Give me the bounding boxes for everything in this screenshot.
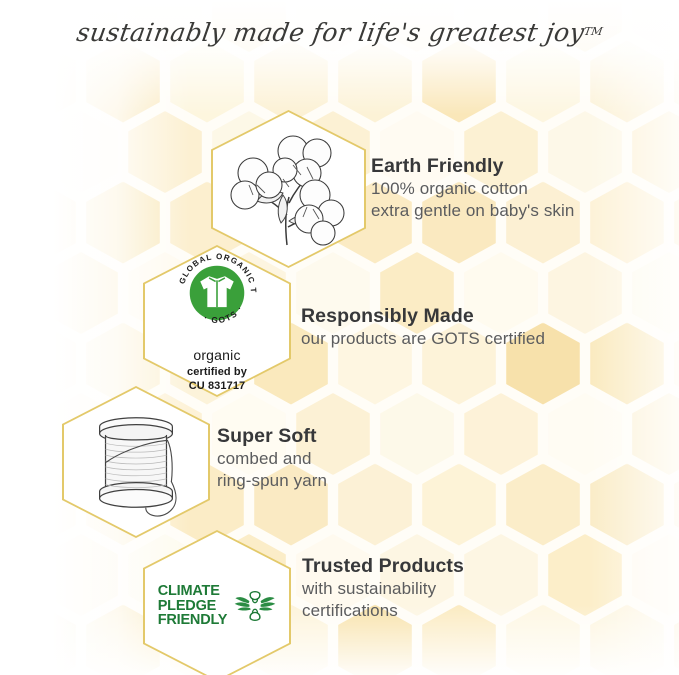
gots-word-organic: organic: [173, 347, 261, 363]
feature-text-super-soft: Super Soft combed and ring-spun yarn: [217, 425, 327, 492]
feature-hexagon-responsibly-made: GLOBAL ORGANIC TEXTILE STANDARD · GOTS ·…: [143, 245, 291, 397]
feature-title: Earth Friendly: [371, 155, 574, 178]
feature-text-trusted-products: Trusted Products with sustainability cer…: [302, 555, 464, 622]
gots-organic-certification-icon: GLOBAL ORGANIC TEXTILE STANDARD · GOTS ·…: [143, 245, 291, 397]
feature-hexagon-trusted-products: CLIMATE PLEDGE FRIENDLY: [143, 530, 291, 675]
honeycomb-cell: [464, 534, 538, 616]
honeycomb-cell: [380, 393, 454, 475]
feature-line: our products are GOTS certified: [301, 328, 545, 350]
feature-title: Super Soft: [217, 425, 327, 448]
honeycomb-cell: [464, 393, 538, 475]
right-fade-overlay: [589, 0, 679, 675]
feature-line: certifications: [302, 600, 464, 622]
feature-line: with sustainability: [302, 578, 464, 600]
cpf-line-3: FRIENDLY: [158, 613, 228, 628]
feature-line: ring-spun yarn: [217, 470, 327, 492]
feature-line: combed and: [217, 448, 327, 470]
cpf-line-1: CLIMATE: [158, 584, 228, 599]
marketing-infographic: sustainably made for life's greatest joy…: [0, 0, 679, 675]
headline: sustainably made for life's greatest joy…: [0, 18, 679, 47]
honeycomb-cell: [338, 464, 412, 546]
climate-pledge-wordmark: CLIMATE PLEDGE FRIENDLY: [158, 584, 228, 628]
feature-hexagon-super-soft: [62, 386, 210, 538]
gots-seal-icon: GLOBAL ORGANIC TEXTILE STANDARD · GOTS ·: [173, 249, 261, 337]
feature-line: 100% organic cotton: [371, 178, 574, 200]
honeycomb-cell: [506, 464, 580, 546]
feature-line: extra gentle on baby's skin: [371, 200, 574, 222]
gots-certified-by: certified by: [173, 366, 261, 379]
feature-text-earth-friendly: Earth Friendly 100% organic cotton extra…: [371, 155, 574, 222]
feature-title: Responsibly Made: [301, 305, 545, 328]
trademark-mark: TM: [583, 25, 604, 38]
climate-pledge-friendly-icon: CLIMATE PLEDGE FRIENDLY: [143, 530, 291, 675]
cpf-line-2: PLEDGE: [158, 599, 228, 614]
feature-text-responsibly-made: Responsibly Made our products are GOTS c…: [301, 305, 545, 350]
honeycomb-cell: [422, 464, 496, 546]
feature-title: Trusted Products: [302, 555, 464, 578]
thread-spool-sketch-icon: [62, 386, 210, 538]
winged-hourglass-icon: [234, 587, 276, 625]
headline-text: sustainably made for life's greatest joy: [74, 18, 586, 47]
